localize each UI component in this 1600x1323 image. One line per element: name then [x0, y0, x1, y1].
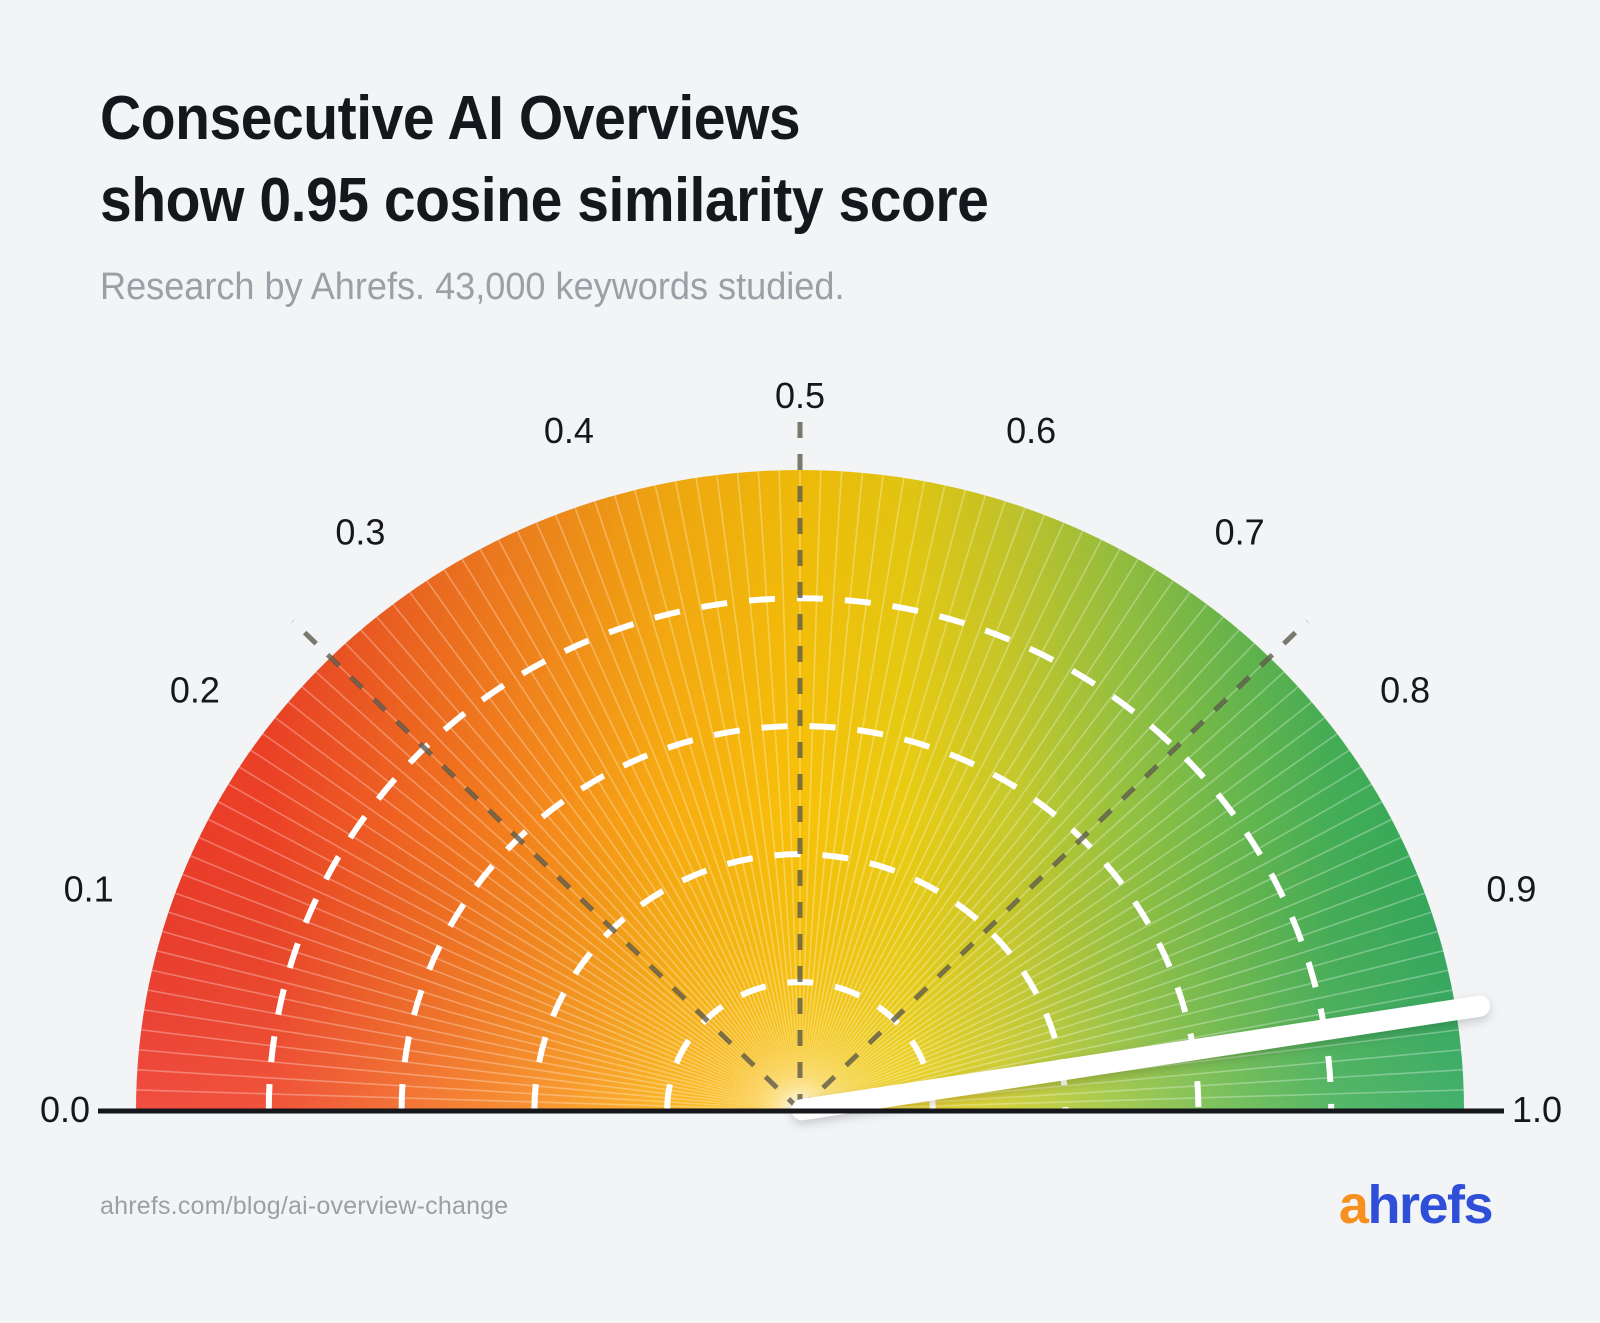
gauge-tick-label: 1.0: [1512, 1089, 1562, 1130]
chart-page: Consecutive AI Overviews show 0.95 cosin…: [0, 0, 1600, 1323]
ahrefs-logo: ahrefs: [1339, 1178, 1492, 1232]
source-url[interactable]: ahrefs.com/blog/ai-overview-change: [100, 1192, 508, 1221]
gauge-tick-label: 0.6: [1006, 410, 1056, 451]
ahrefs-logo-rest: hrefs: [1367, 1175, 1492, 1235]
gauge-tick-label: 0.8: [1380, 669, 1430, 710]
gauge-tick-label: 0.7: [1215, 511, 1265, 552]
gauge-tick-label: 0.4: [544, 410, 594, 451]
gauge-tick-label: 0.5: [775, 375, 825, 416]
gauge-tick-label: 0.0: [40, 1089, 90, 1130]
gauge-chart: 0.00.10.20.30.40.50.60.70.80.91.0: [0, 0, 1600, 1323]
gauge-tick-label: 0.1: [64, 868, 114, 909]
gauge-tick-label: 0.2: [170, 669, 220, 710]
gauge-tick-label: 0.3: [335, 511, 385, 552]
gauge-svg: 0.00.10.20.30.40.50.60.70.80.91.0: [0, 0, 1600, 1323]
gauge-tick-label: 0.9: [1486, 868, 1536, 909]
ahrefs-logo-a: a: [1339, 1175, 1368, 1235]
